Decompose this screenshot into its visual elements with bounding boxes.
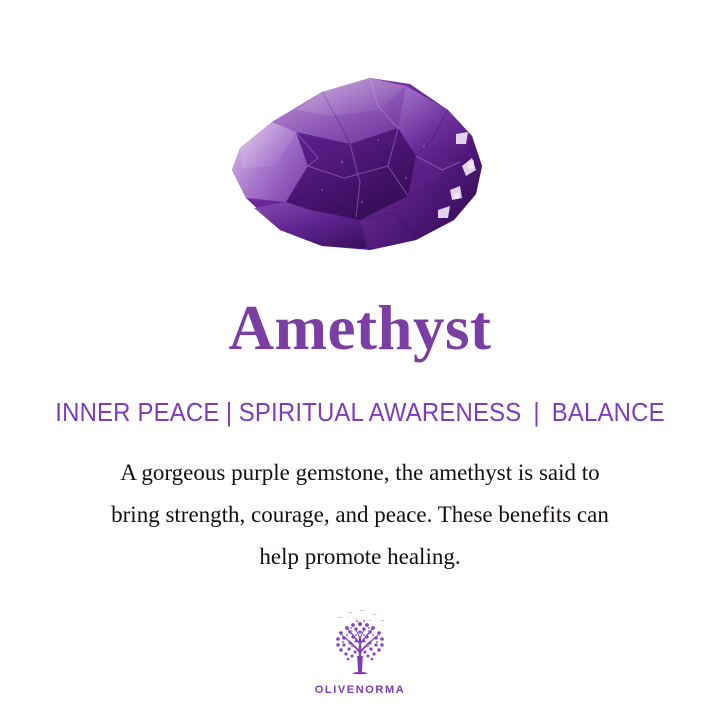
keyword-separator: |: [521, 397, 551, 427]
page-title: Amethyst: [0, 297, 720, 360]
description-line: bring strength, courage, and peace. Thes…: [45, 494, 675, 536]
amethyst-crystal-icon: [210, 70, 510, 265]
amethyst-info-card: Amethyst INNER PEACE|SPIRITUAL AWARENESS…: [0, 0, 720, 720]
keyword-separator: |: [219, 397, 238, 427]
keyword-balance: BALANCE: [552, 397, 665, 427]
description-line: help promote healing.: [45, 536, 675, 578]
keyword-spiritual-awareness: SPIRITUAL AWARENESS: [239, 397, 522, 427]
keyword-tagline: INNER PEACE|SPIRITUAL AWARENESS|BALANCE: [29, 398, 691, 427]
hero-image-container: [0, 70, 720, 265]
brand-wordmark: OLIVENORMA: [0, 684, 720, 696]
keyword-inner-peace: INNER PEACE: [55, 397, 219, 427]
description-line: A gorgeous purple gemstone, the amethyst…: [45, 452, 675, 494]
brand-logo: OLIVENORMA: [0, 608, 720, 696]
description-text: A gorgeous purple gemstone, the amethyst…: [45, 452, 675, 578]
tree-of-life-icon: [322, 608, 398, 682]
